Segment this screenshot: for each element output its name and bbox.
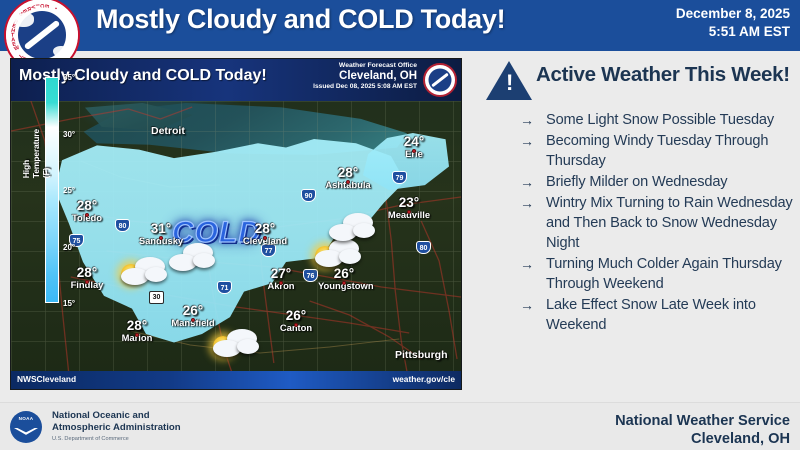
route-shield-80: 80	[416, 241, 431, 254]
map-city-temperature: 28°Ashtabula	[322, 166, 374, 190]
forecast-map-panel[interactable]: COLD High Temperature (F) 35°30°25°20°15…	[10, 58, 462, 390]
color-scale-tick: 35°	[63, 73, 75, 82]
map-city-temperature: 26°Canton	[270, 309, 322, 333]
agency-line-2: Atmospheric Administration	[52, 422, 181, 434]
page-footer: NOAA National Oceanic and Atmospheric Ad…	[0, 402, 800, 450]
temperature-value: 24°	[388, 135, 440, 148]
temperature-value: 28°	[239, 222, 291, 235]
city-marker-dot	[342, 281, 346, 285]
alert-bullet-text: Briefly Milder on Wednesday	[546, 172, 727, 192]
exclamation-mark-icon: !	[506, 72, 513, 94]
arrow-right-icon: →	[520, 295, 546, 335]
city-marker-dot	[85, 280, 89, 284]
noaa-agency-text: National Oceanic and Atmospheric Adminis…	[52, 410, 181, 442]
alert-bullet-item: →Briefly Milder on Wednesday	[520, 172, 796, 192]
city-marker-dot	[294, 323, 298, 327]
alert-header: ! Active Weather This Week!	[478, 58, 796, 102]
alert-bullet-item: →Wintry Mix Turning to Rain Wednesday an…	[520, 193, 796, 253]
city-marker-dot	[279, 281, 283, 285]
color-scale-title: High Temperature (F)	[21, 129, 51, 178]
alert-bullet-text: Turning Much Colder Again Thursday Throu…	[546, 254, 796, 294]
map-city-temperature: 28°Findlay	[61, 266, 113, 290]
alert-bullet-item: →Lake Effect Snow Late Week into Weekend	[520, 295, 796, 335]
noaa-wordmark: NOAA	[10, 416, 42, 421]
map-city-temperature: 27°Akron	[255, 267, 307, 291]
route-shield-79: 79	[392, 171, 407, 184]
route-shield-30: 30	[149, 291, 164, 304]
page-header: • NATIONAL WEATHER SERVICE • Mostly Clou…	[0, 0, 800, 51]
arrow-right-icon: →	[520, 193, 546, 253]
map-city-temperature: 24°Erie	[388, 135, 440, 159]
map-city-label: Pittsburgh	[395, 349, 448, 361]
temperature-value: 26°	[167, 304, 219, 317]
temperature-value: 26°	[270, 309, 322, 322]
active-weather-panel: ! Active Weather This Week! →Some Light …	[478, 58, 796, 388]
map-credit: NWSCleveland	[17, 374, 76, 384]
nws-footer-text: National Weather Service Cleveland, OH	[615, 412, 790, 448]
nws-footer-line-2: Cleveland, OH	[615, 430, 790, 448]
city-marker-dot	[135, 333, 139, 337]
city-marker-dot	[412, 149, 416, 153]
alert-bullet-item: →Some Light Snow Possible Tuesday	[520, 110, 796, 130]
alert-bullet-text: Some Light Snow Possible Tuesday	[546, 110, 774, 130]
nws-seal-small-icon	[423, 63, 457, 97]
alert-bullet-text: Wintry Mix Turning to Rain Wednesday and…	[546, 193, 796, 253]
wfo-issued: Issued Dec 08, 2025 5:08 AM EST	[313, 83, 417, 91]
route-shield-71: 71	[217, 281, 232, 294]
map-city-temperature: 23°Meadville	[383, 196, 435, 220]
color-scale-tick: 15°	[63, 299, 75, 308]
color-scale-tick: 25°	[63, 186, 75, 195]
alert-bullet-text: Becoming Windy Tuesday Through Thursday	[546, 131, 796, 171]
alert-bullet-item: →Turning Much Colder Again Thursday Thro…	[520, 254, 796, 294]
temperature-value: 31°	[135, 222, 187, 235]
temperature-value: 23°	[383, 196, 435, 209]
map-city-temperature: 28°Toledo	[61, 199, 113, 223]
arrow-right-icon: →	[520, 172, 546, 192]
map-website: weather.gov/cle	[393, 374, 455, 384]
temperature-value: 28°	[111, 319, 163, 332]
wfo-label: Weather Forecast Office	[313, 62, 417, 70]
color-scale-bar	[45, 77, 59, 303]
temperature-value: 28°	[61, 266, 113, 279]
alert-bullet-item: →Becoming Windy Tuesday Through Thursday	[520, 131, 796, 171]
alert-bullet-text: Lake Effect Snow Late Week into Weekend	[546, 295, 796, 335]
temperature-value: 27°	[255, 267, 307, 280]
header-date: December 8, 2025	[676, 5, 790, 23]
map-city-temperature: 28°Cleveland	[239, 222, 291, 246]
city-marker-dot	[407, 210, 411, 214]
map-city-temperature: 26°Mansfield	[167, 304, 219, 328]
city-marker-dot	[85, 213, 89, 217]
wfo-office: Cleveland, OH	[313, 70, 417, 83]
agency-line-1: National Oceanic and	[52, 410, 181, 422]
city-marker-dot	[159, 236, 163, 240]
mostly-cloudy-icon	[163, 241, 221, 277]
city-marker-dot	[191, 318, 195, 322]
map-city-label: Detroit	[151, 125, 185, 137]
route-shield-80: 80	[115, 219, 130, 232]
city-marker-dot	[346, 180, 350, 184]
color-scale-tick: 20°	[63, 243, 75, 252]
weather-graphic-root: • NATIONAL WEATHER SERVICE • Mostly Clou…	[0, 0, 800, 450]
map-footer-bar: NWSCleveland weather.gov/cle	[11, 371, 461, 389]
noaa-seal-icon: NOAA	[10, 411, 42, 443]
arrow-right-icon: →	[520, 254, 546, 294]
map-city-temperature: 28°Marion	[111, 319, 163, 343]
header-datetime: December 8, 2025 5:51 AM EST	[676, 5, 790, 41]
alert-bullet-list: →Some Light Snow Possible Tuesday→Becomi…	[520, 110, 796, 336]
alert-title: Active Weather This Week!	[536, 63, 790, 87]
mostly-cloudy-icon	[323, 211, 381, 247]
forecast-office-block: Weather Forecast Office Cleveland, OH Is…	[313, 62, 417, 91]
map-title-bar: Mostly Cloudy and COLD Today! Weather Fo…	[11, 59, 461, 101]
header-time: 5:51 AM EST	[676, 23, 790, 41]
agency-line-3: U.S. Department of Commerce	[52, 436, 181, 442]
arrow-right-icon: →	[520, 131, 546, 171]
arrow-right-icon: →	[520, 110, 546, 130]
route-shield-90: 90	[301, 189, 316, 202]
city-marker-dot	[263, 236, 267, 240]
temperature-value: 28°	[322, 166, 374, 179]
temperature-value: 28°	[61, 199, 113, 212]
nws-footer-line-1: National Weather Service	[615, 412, 790, 430]
mostly-cloudy-sun-icon	[207, 327, 265, 363]
page-title: Mostly Cloudy and COLD Today!	[96, 4, 505, 35]
color-scale-tick: 30°	[63, 130, 75, 139]
